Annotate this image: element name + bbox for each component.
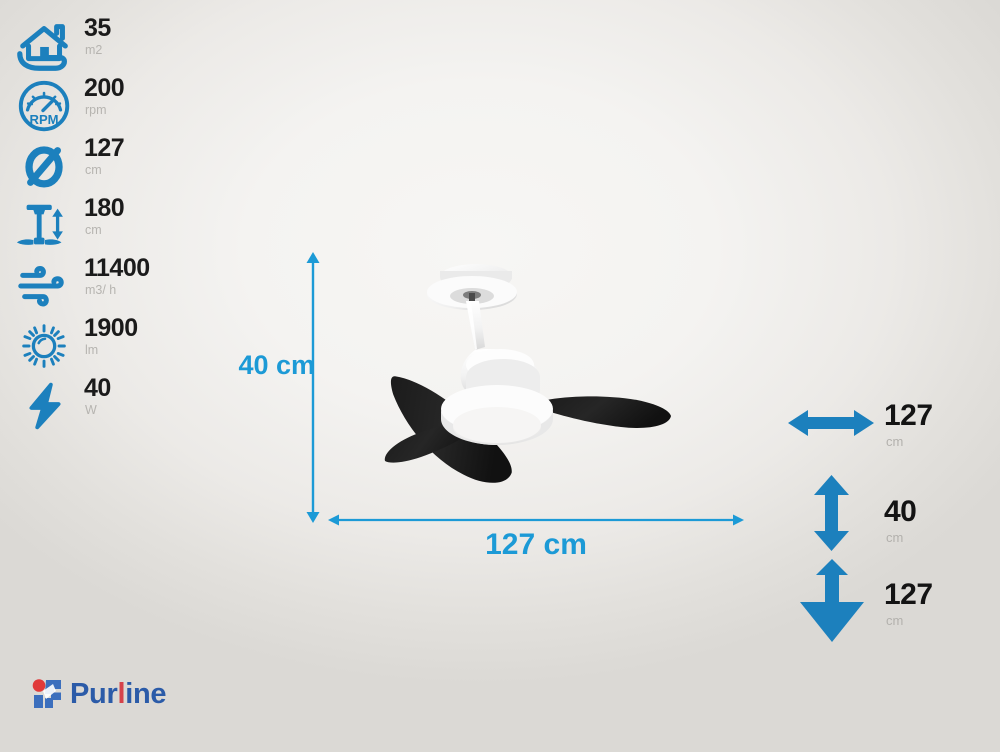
ceiling-fan-image bbox=[325, 255, 745, 515]
rpm-gauge-icon: RPM bbox=[14, 78, 76, 134]
spec-unit: m3/ h bbox=[85, 284, 116, 297]
svg-text:RPM: RPM bbox=[30, 112, 59, 127]
horizontal-double-arrow bbox=[786, 403, 876, 443]
spec-unit: cm bbox=[85, 224, 102, 237]
brand-name: Purline bbox=[70, 676, 166, 712]
brand-name-part2: ine bbox=[125, 678, 166, 710]
dimension-callout-drop: 127 cm bbox=[780, 558, 1000, 643]
specifications-list: 35 m2 RPM bbox=[0, 0, 200, 440]
width-dimension-label: 127 cm bbox=[326, 528, 746, 562]
spec-value: 200 bbox=[84, 76, 124, 101]
spec-unit: cm bbox=[85, 164, 102, 177]
spec-row-lumens: 1900 lm bbox=[0, 318, 200, 374]
spec-row-area: 35 m2 bbox=[0, 18, 200, 74]
spec-unit: W bbox=[85, 404, 97, 417]
spec-value: 11400 bbox=[84, 256, 150, 281]
diameter-icon bbox=[14, 138, 76, 194]
spec-value: 180 bbox=[84, 196, 124, 221]
product-figure: 40 cm bbox=[300, 250, 750, 570]
dimension-value: 127 bbox=[884, 401, 933, 431]
spec-row-drop-height: 180 cm bbox=[0, 198, 200, 254]
sun-brightness-icon bbox=[14, 318, 76, 374]
lightning-bolt-icon bbox=[14, 378, 76, 434]
spec-row-airflow: 11400 m3/ h bbox=[0, 258, 200, 314]
height-dimension-label: 40 cm bbox=[205, 350, 315, 381]
spec-unit: lm bbox=[85, 344, 98, 357]
brand-logo[interactable]: Purline bbox=[30, 676, 220, 716]
brand-name-part1: Pur bbox=[70, 678, 117, 710]
dimension-unit: cm bbox=[886, 435, 903, 448]
dimension-unit: cm bbox=[886, 614, 903, 627]
dimension-unit: cm bbox=[886, 531, 903, 544]
spec-value: 40 bbox=[84, 376, 111, 401]
dimension-value: 127 bbox=[884, 580, 933, 610]
height-dimension-line bbox=[300, 250, 326, 525]
dimension-value: 40 bbox=[884, 497, 916, 527]
ceiling-fan-drop-height-icon bbox=[14, 198, 76, 254]
spec-row-diameter: 127 cm bbox=[0, 138, 200, 194]
spec-unit: m2 bbox=[85, 44, 102, 57]
dimension-callout-height: 40 cm bbox=[780, 473, 1000, 553]
vertical-double-arrow bbox=[804, 473, 860, 553]
dimension-callouts: 127 cm 40 cm 127 cm bbox=[780, 395, 1000, 640]
spec-value: 35 bbox=[84, 16, 111, 41]
page-background: 35 m2 RPM bbox=[0, 0, 1000, 752]
spec-value: 1900 bbox=[84, 316, 138, 341]
spec-value: 127 bbox=[84, 136, 124, 161]
house-in-hand-icon bbox=[14, 18, 76, 74]
vertical-down-arrow bbox=[798, 558, 868, 643]
spec-unit: rpm bbox=[85, 104, 107, 117]
spec-row-rpm: RPM 200 rpm bbox=[0, 78, 200, 134]
dimension-callout-width: 127 cm bbox=[780, 395, 1000, 455]
purline-figure-mark bbox=[30, 678, 64, 710]
airflow-wind-icon bbox=[14, 258, 76, 314]
spec-row-power: 40 W bbox=[0, 378, 200, 434]
